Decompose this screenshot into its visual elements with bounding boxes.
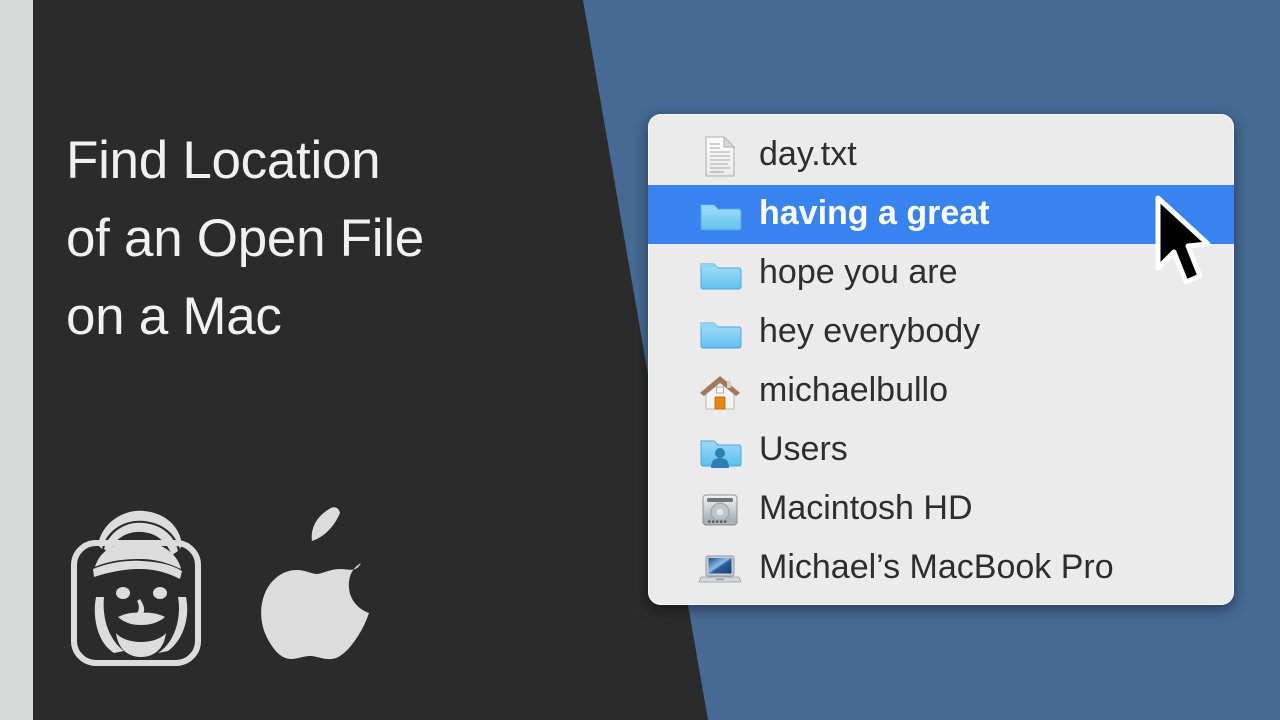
branding-logos bbox=[68, 505, 384, 668]
finder-path-popup-menu[interactable]: day.txthaving a greathope you arehey eve… bbox=[648, 114, 1234, 605]
blue-folder-icon bbox=[698, 311, 742, 355]
path-menu-item-label: Users bbox=[759, 432, 848, 469]
path-menu-item[interactable]: Macintosh HD bbox=[648, 480, 1234, 539]
hard-disk-icon bbox=[698, 488, 742, 532]
left-edge-strip bbox=[0, 0, 33, 720]
path-menu-item-label: Michael’s MacBook Pro bbox=[759, 550, 1114, 587]
path-menu-item[interactable]: hey everybody bbox=[648, 303, 1234, 362]
text-document-icon bbox=[698, 134, 742, 178]
blue-folder-icon bbox=[697, 193, 743, 237]
apple-logo bbox=[254, 507, 384, 667]
path-menu-item[interactable]: Users bbox=[648, 421, 1234, 480]
page-title: Find Location of an Open File on a Mac bbox=[66, 122, 536, 356]
bearded-man-avatar-logo bbox=[68, 505, 204, 668]
path-menu-item-label: hey everybody bbox=[759, 314, 980, 351]
path-menu-item[interactable]: Michael’s MacBook Pro bbox=[648, 539, 1234, 598]
path-menu-item-label: hope you are bbox=[759, 255, 958, 292]
path-menu-item[interactable]: day.txt bbox=[648, 126, 1234, 185]
blue-folder-icon bbox=[698, 193, 742, 237]
path-menu-item[interactable]: having a great bbox=[648, 185, 1234, 244]
path-menu-item-label: day.txt bbox=[759, 137, 857, 174]
path-menu-item[interactable]: michaelbullo bbox=[648, 362, 1234, 421]
blue-folder-icon bbox=[698, 252, 742, 296]
hard-disk-icon bbox=[697, 488, 743, 532]
text-document-icon bbox=[697, 134, 743, 178]
home-folder-icon bbox=[698, 370, 742, 414]
home-folder-icon bbox=[697, 370, 743, 414]
macbook-pro-icon bbox=[697, 547, 743, 591]
screenshot-canvas: Find Location of an Open File on a Mac bbox=[0, 0, 1280, 720]
path-menu-item-label: michaelbullo bbox=[759, 373, 948, 410]
blue-folder-icon bbox=[697, 252, 743, 296]
path-menu-item[interactable]: hope you are bbox=[648, 244, 1234, 303]
users-folder-icon bbox=[697, 429, 743, 473]
path-menu-item-label: Macintosh HD bbox=[759, 491, 973, 528]
path-menu-item-label: having a great bbox=[759, 196, 990, 233]
users-folder-icon bbox=[698, 429, 742, 473]
macbook-pro-icon bbox=[698, 547, 742, 591]
blue-folder-icon bbox=[697, 311, 743, 355]
